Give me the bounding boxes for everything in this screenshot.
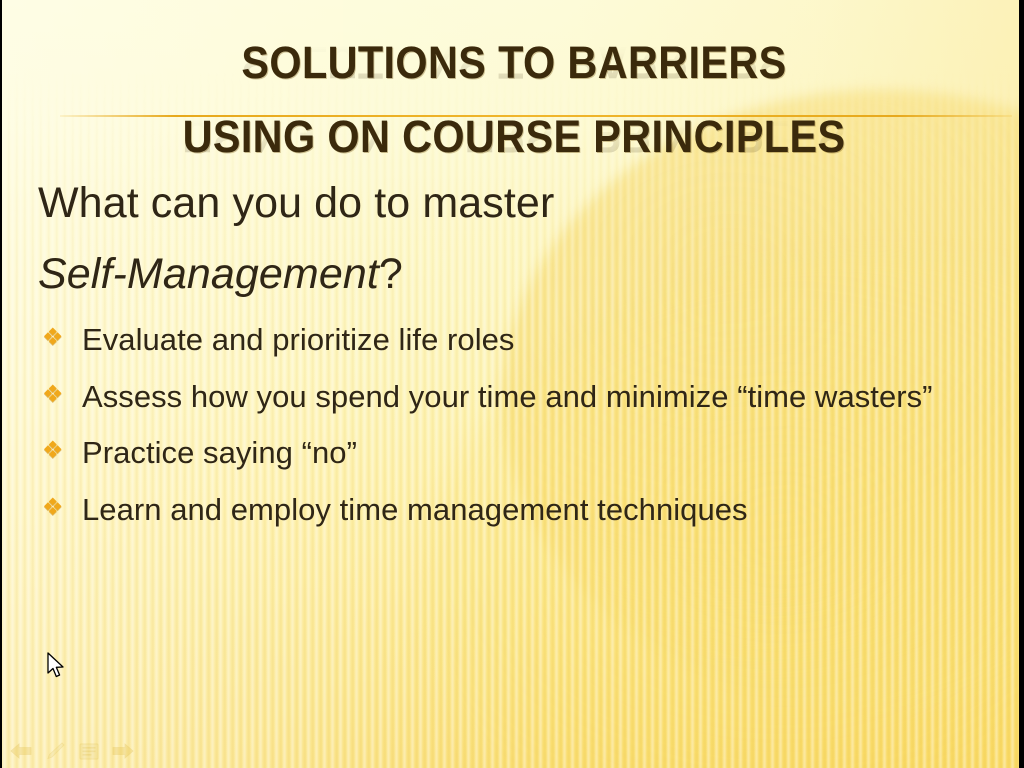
list-item: ❖ Evaluate and prioritize life roles	[38, 322, 988, 359]
arrow-left-icon	[10, 743, 32, 759]
next-slide-button[interactable]	[110, 740, 136, 762]
slide-title: Solutions to Barriers Solutions to Barri…	[2, 40, 1024, 159]
menu-icon	[79, 743, 99, 760]
title-line-2: Using On Course Principles Using On Cour…	[43, 114, 985, 159]
arrow-right-icon	[112, 743, 134, 759]
list-item-text: Evaluate and prioritize life roles	[82, 322, 514, 357]
list-item-text: Practice saying “no”	[82, 435, 357, 470]
title-divider-rule	[60, 115, 1012, 117]
presenter-toolbar[interactable]	[8, 740, 136, 762]
pen-icon	[45, 742, 65, 760]
list-item-text: Learn and employ time management techniq…	[82, 492, 748, 527]
lead-emphasis-term: Self-Management	[38, 250, 379, 298]
lead-question-mark: ?	[379, 250, 403, 298]
list-item: ❖ Practice saying “no”	[38, 435, 988, 472]
title-line-1: Solutions to Barriers Solutions to Barri…	[43, 40, 985, 85]
pen-tool-button[interactable]	[42, 740, 68, 762]
slide-body: What can you do to master Self-Managemen…	[38, 182, 988, 548]
previous-slide-button[interactable]	[8, 740, 34, 762]
lead-question-line-1: What can you do to master	[38, 182, 988, 225]
lead-question-line-2: Self-Management?	[38, 253, 988, 296]
diamond-bullet-icon: ❖	[42, 439, 64, 463]
title-line-2-text: Using On Course Principles	[183, 111, 846, 162]
bullet-list: ❖ Evaluate and prioritize life roles ❖ A…	[38, 322, 988, 528]
diamond-bullet-icon: ❖	[42, 383, 64, 407]
diamond-bullet-icon: ❖	[42, 326, 64, 350]
diamond-bullet-icon: ❖	[42, 496, 64, 520]
list-item-text: Assess how you spend your time and minim…	[82, 379, 933, 414]
presentation-slide: Solutions to Barriers Solutions to Barri…	[0, 0, 1024, 768]
list-item: ❖ Learn and employ time management techn…	[38, 492, 988, 529]
slide-menu-button[interactable]	[76, 740, 102, 762]
title-line-1-text: Solutions to Barriers	[241, 37, 786, 88]
list-item: ❖ Assess how you spend your time and min…	[38, 379, 988, 416]
